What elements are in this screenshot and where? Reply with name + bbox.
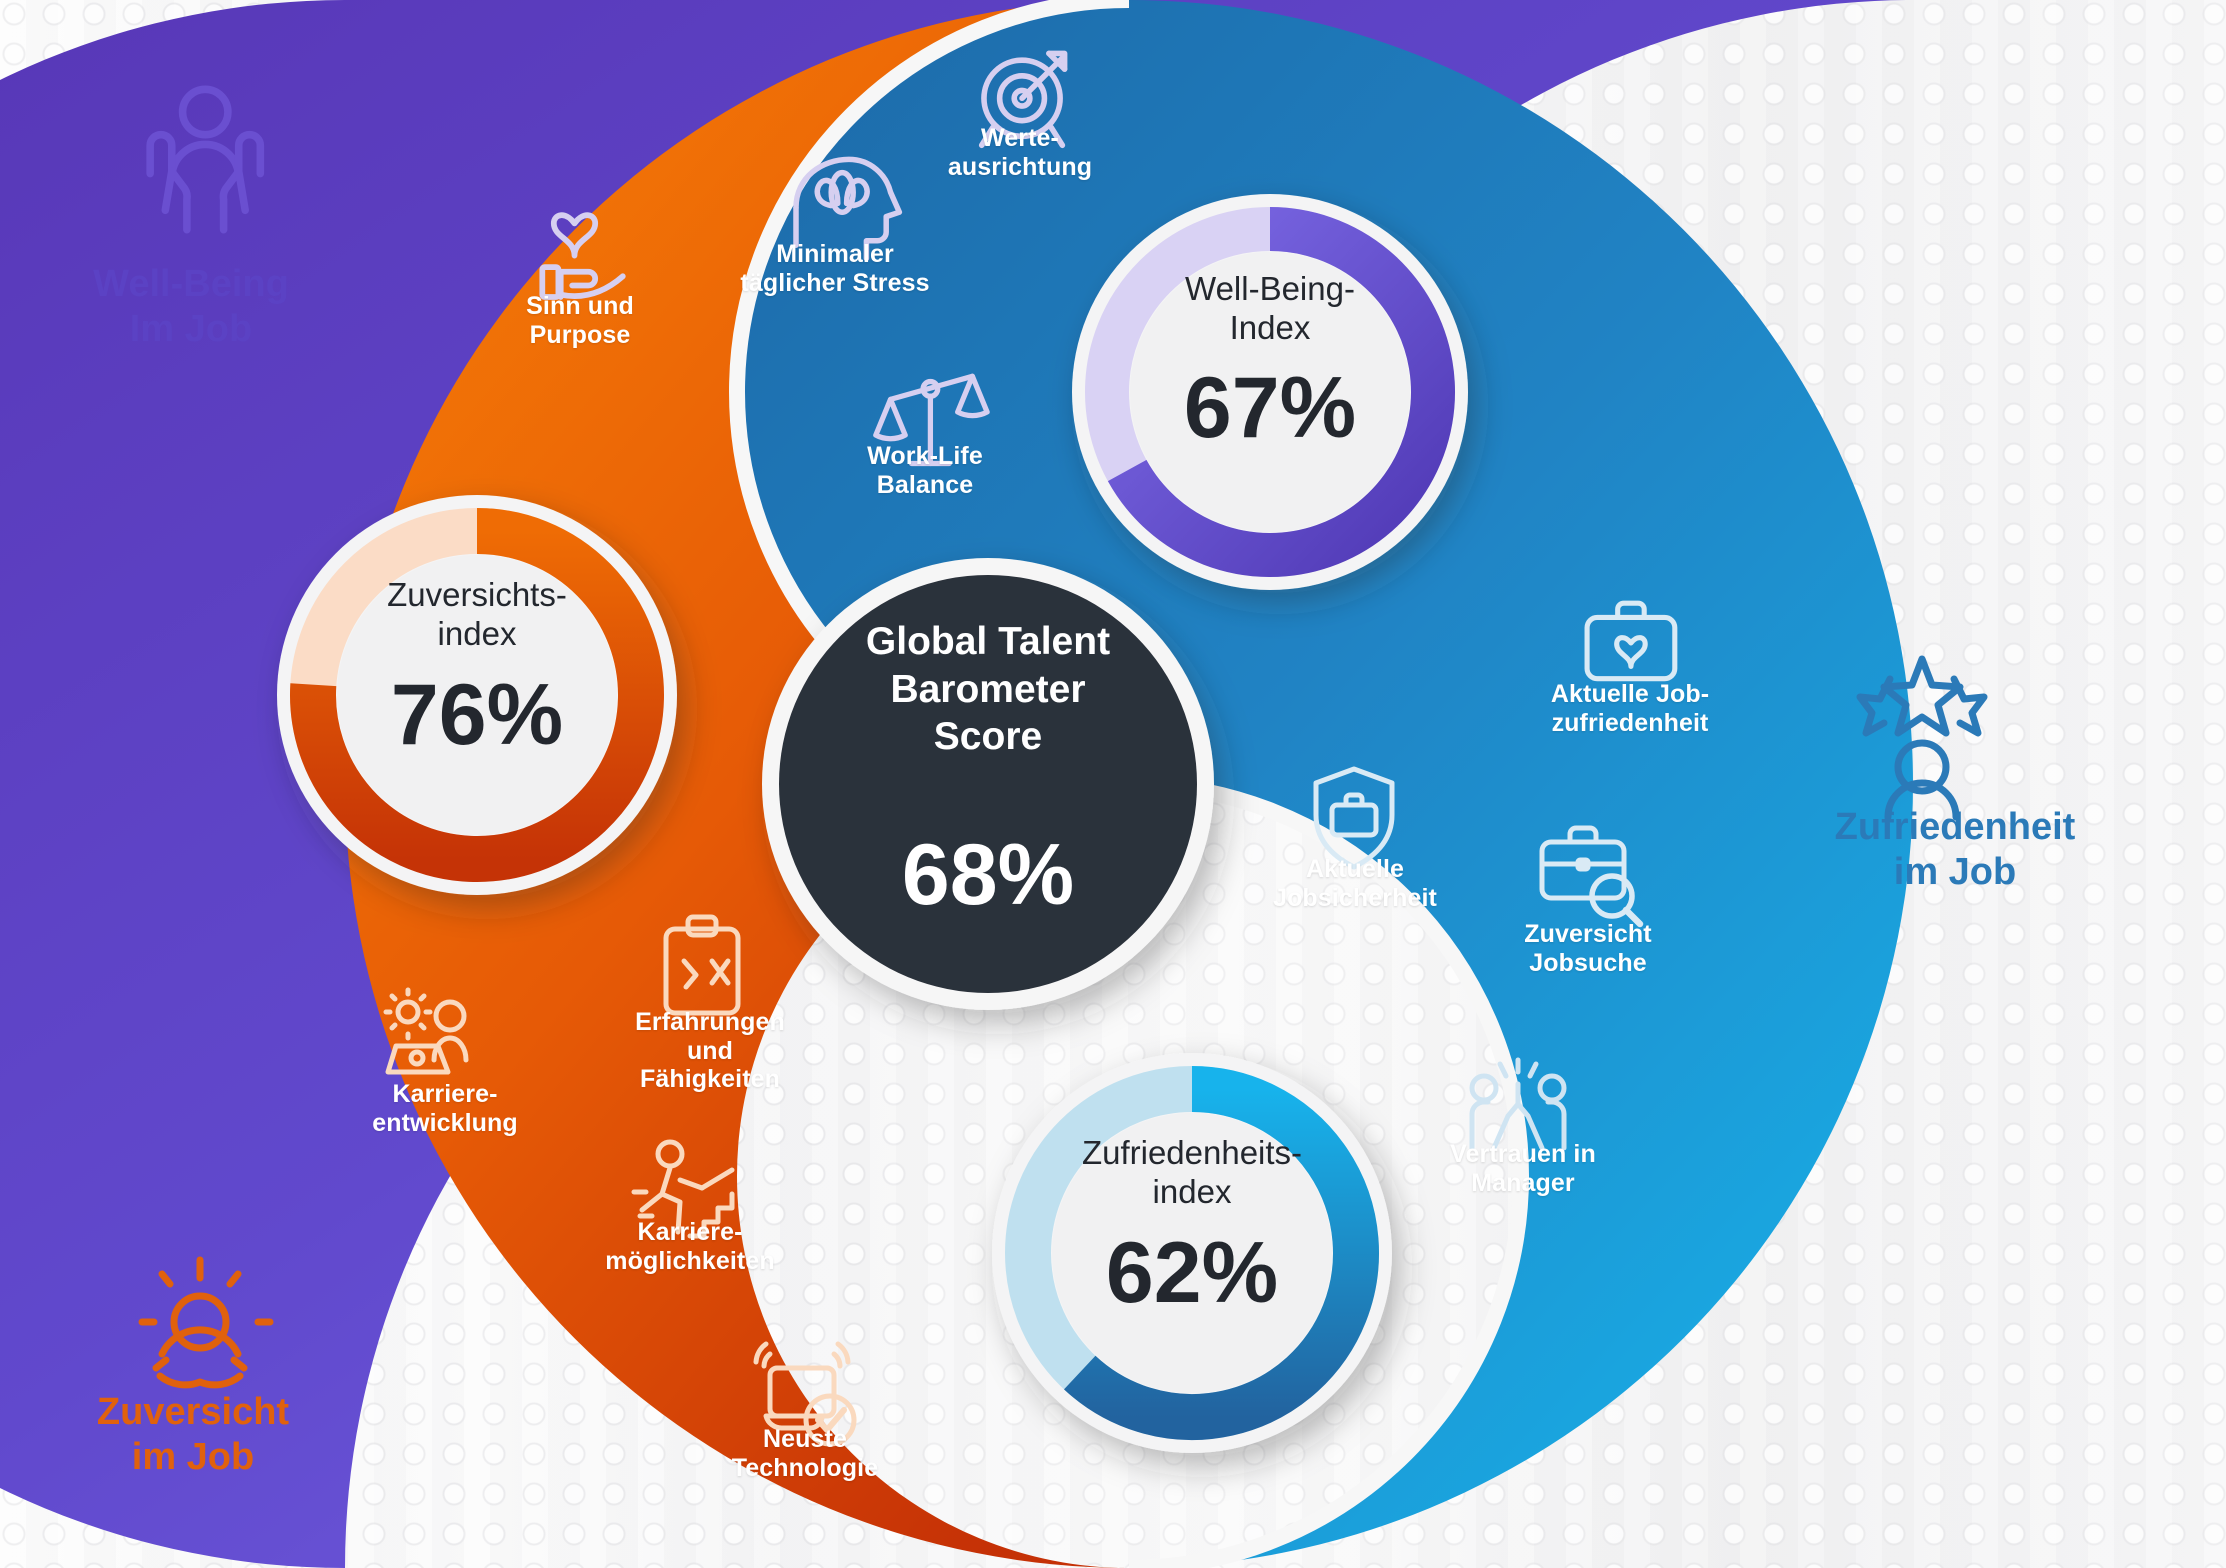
donut-value-zufriedenheits-index: 62% xyxy=(1012,1230,1372,1316)
corner-label-zufriedenheit-line1: Zufriedenheit xyxy=(1790,805,2120,850)
donut-label-zufriedenheits-index-line1: Zufriedenheits- xyxy=(1012,1134,1372,1173)
core-score-title: Global Talent Barometer Score xyxy=(798,618,1178,761)
corner-label-zufriedenheit-line2: im Job xyxy=(1790,850,2120,895)
corner-label-wellbeing: Well-Being Im Job xyxy=(46,262,336,352)
donut-value-well-being-index: 67% xyxy=(1090,365,1450,451)
donut-label-well-being-index-line2: Index xyxy=(1090,309,1450,348)
corner-label-zuversicht: Zuversicht im Job xyxy=(48,1390,338,1480)
corner-label-zufriedenheit: Zufriedenheit im Job xyxy=(1790,805,2120,895)
donut-value-zuversichts-index: 76% xyxy=(297,672,657,758)
donut-label-well-being-index: Well-Being- Index xyxy=(1090,270,1450,347)
talent-barometer-wheel xyxy=(0,0,2226,1568)
infographic-canvas: Well-Being Im Job Zufriedenheit im Job Z… xyxy=(0,0,2226,1568)
core-score-value: 68% xyxy=(798,832,1178,918)
core-score-title-line1: Global Talent xyxy=(798,618,1178,666)
corner-label-wellbeing-line2: Im Job xyxy=(46,307,336,352)
core-score-title-line2: Barometer xyxy=(798,666,1178,714)
corner-label-wellbeing-line1: Well-Being xyxy=(46,262,336,307)
donut-label-zufriedenheits-index-line2: index xyxy=(1012,1173,1372,1212)
donut-label-zuversichts-index: Zuversichts- index xyxy=(297,576,657,653)
core-score-title-line3: Score xyxy=(798,713,1178,761)
corner-label-zuversicht-line2: im Job xyxy=(48,1435,338,1480)
donut-label-zuversichts-index-line1: Zuversichts- xyxy=(297,576,657,615)
donut-label-zufriedenheits-index: Zufriedenheits- index xyxy=(1012,1134,1372,1211)
corner-label-zuversicht-line1: Zuversicht xyxy=(48,1390,338,1435)
donut-label-zuversichts-index-line2: index xyxy=(297,615,657,654)
donut-label-well-being-index-line1: Well-Being- xyxy=(1090,270,1450,309)
